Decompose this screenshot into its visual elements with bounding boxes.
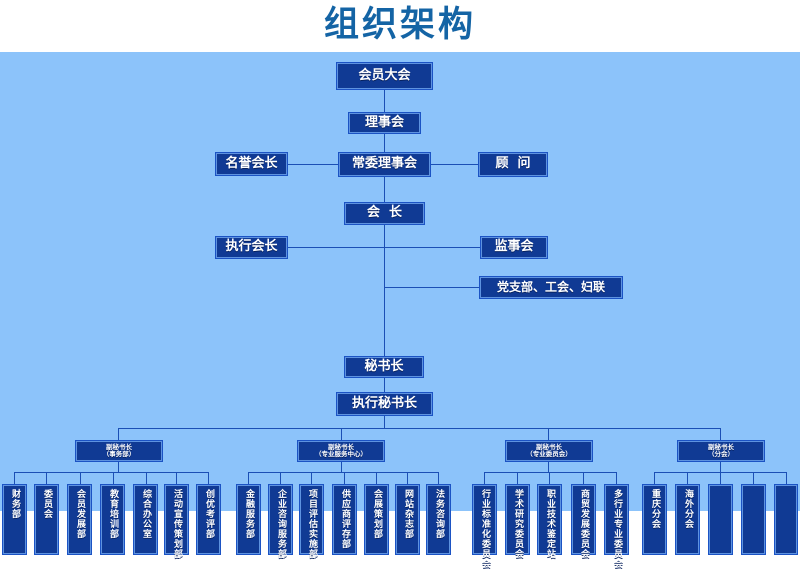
connector-secgen-execsecgen (384, 378, 385, 392)
node-deputy-secretary-4[interactable]: 副秘书长 （分会） (677, 440, 765, 462)
node-deputy-secretary-1[interactable]: 副秘书长 （事务部） (75, 440, 163, 462)
node-supervisory-board[interactable]: 监事会 (480, 236, 548, 259)
dept-box[interactable]: 教育培训部 (100, 484, 125, 555)
node-secretary-general[interactable]: 秘书长 (344, 356, 424, 378)
connector-group2-drop-4 (344, 472, 345, 484)
connector-group1-drop-1 (14, 472, 15, 484)
dept-box[interactable]: 法务咨询部 (426, 484, 451, 555)
connector-bus-deputy-1 (118, 428, 119, 440)
org-chart: 组织架构 (0, 0, 800, 511)
dept-box[interactable]: 职业技术鉴定站 (537, 484, 562, 555)
connector-group1-drop-2 (46, 472, 47, 484)
connector-group2-bus (248, 472, 438, 473)
connector-group2-drop-5 (376, 472, 377, 484)
node-executive-secretary-general[interactable]: 执行秘书长 (336, 392, 433, 416)
node-advisor[interactable]: 顾 问 (478, 152, 548, 177)
connector-group3-bus (484, 472, 616, 473)
node-president[interactable]: 会 长 (344, 202, 425, 225)
connector-group1-drop-3 (80, 472, 81, 484)
connector-group3-drop-5 (616, 472, 617, 484)
connector-group2-drop-2 (280, 472, 281, 484)
connector-group1-drop-6 (176, 472, 177, 484)
node-general-assembly[interactable]: 会员大会 (336, 62, 433, 90)
dept-box[interactable]: 金融服务部 (236, 484, 261, 555)
dept-box[interactable]: 企业咨询服务部 (268, 484, 293, 555)
connector-bus-deputy-4 (720, 428, 721, 440)
connector-group1-drop-5 (146, 472, 147, 484)
connector-group2-drop-1 (248, 472, 249, 484)
dept-box[interactable]: 海外分会 (675, 484, 700, 555)
connector-execsecgen-bus (384, 416, 385, 428)
dept-box[interactable]: 商贸发展委员会 (571, 484, 596, 555)
connector-group2-drop-3 (311, 472, 312, 484)
node-honorary-president[interactable]: 名誉会长 (215, 152, 288, 176)
dept-box[interactable]: 创优考评部 (196, 484, 221, 555)
dept-box[interactable]: 供应商评存部 (332, 484, 357, 555)
connector-group4-drop-4 (753, 472, 754, 484)
connector-group3-drop-3 (549, 472, 550, 484)
connector-group1-drop-4 (113, 472, 114, 484)
connector-group1-drop-7 (208, 472, 209, 484)
connector-group3-drop-2 (517, 472, 518, 484)
dept-box[interactable]: 行业标准化委员会 (472, 484, 497, 555)
dept-box[interactable]: 重庆分会 (642, 484, 667, 555)
dept-box[interactable] (774, 484, 798, 555)
connector-spine-supervisory (384, 247, 480, 248)
connector-president-spine (384, 224, 385, 356)
chart-canvas: 会员大会 理事会 名誉会长 常委理事会 顾 问 会 长 执行会长 监事会 党支部… (0, 52, 800, 511)
connector-group1-bus (14, 472, 208, 473)
connector-standing-advisor (430, 164, 478, 165)
connector-honorary-standing (286, 164, 340, 165)
node-deputy-secretary-2[interactable]: 副秘书长 （专业服务中心） (297, 440, 385, 462)
connector-group3-drop-4 (583, 472, 584, 484)
connector-bus-deputy-3 (548, 428, 549, 440)
node-deputy-secretary-3[interactable]: 副秘书长 （专业委员会） (505, 440, 593, 462)
connector-group4-drop-3 (720, 472, 721, 484)
header-band: 组织架构 (0, 0, 800, 52)
connector-group2-drop-7 (438, 472, 439, 484)
connector-execpresident-spine (286, 247, 384, 248)
dept-box[interactable]: 财务部 (2, 484, 27, 555)
connector-group4-drop-5 (786, 472, 787, 484)
connector-deputy-bus (118, 428, 720, 429)
connector-standing-president (384, 177, 385, 202)
dept-box[interactable]: 综合办公室 (133, 484, 158, 555)
connector-group3-drop-1 (484, 472, 485, 484)
page-title: 组织架构 (0, 2, 800, 48)
dept-box[interactable] (708, 484, 733, 555)
connector-bus-deputy-2 (341, 428, 342, 440)
dept-box[interactable]: 委员会 (34, 484, 59, 555)
connector-assembly-council (384, 90, 385, 112)
node-standing-council[interactable]: 常委理事会 (338, 152, 431, 177)
dept-box[interactable]: 学术研究委员会 (505, 484, 530, 555)
dept-box[interactable]: 网站杂志部 (395, 484, 420, 555)
node-executive-president[interactable]: 执行会长 (215, 236, 288, 259)
connector-council-standing (384, 134, 385, 154)
connector-group4-drop-1 (654, 472, 655, 484)
dept-box[interactable] (741, 484, 766, 555)
dept-box[interactable]: 活动宣传策划部 (164, 484, 189, 555)
connector-spine-party (384, 287, 480, 288)
node-party-union-women[interactable]: 党支部、工会、妇联 (479, 276, 623, 299)
dept-box[interactable]: 多行业专业委员会 (604, 484, 629, 555)
connector-group4-drop-2 (687, 472, 688, 484)
connector-group2-drop-6 (407, 472, 408, 484)
dept-box[interactable]: 项目评估实施部 (299, 484, 324, 555)
node-council[interactable]: 理事会 (348, 112, 421, 134)
dept-box[interactable]: 会展策划部 (364, 484, 389, 555)
dept-box[interactable]: 会员发展部 (67, 484, 92, 555)
